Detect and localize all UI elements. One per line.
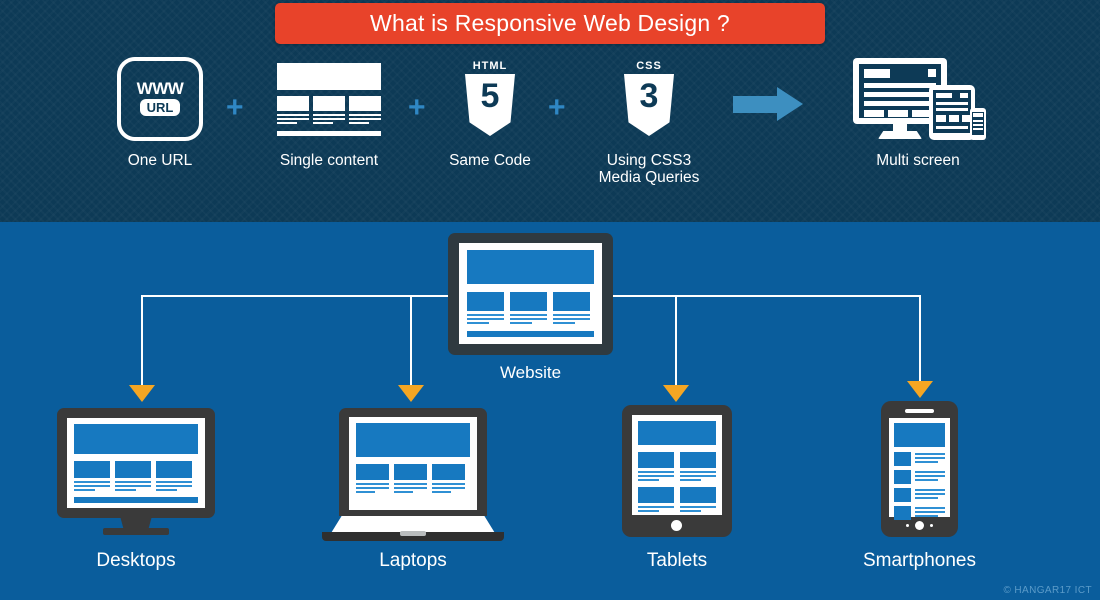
- arrow-right-icon: [733, 87, 805, 121]
- device-label-desktops: Desktops: [57, 550, 215, 572]
- css3-logo-icon: CSS 3: [590, 55, 708, 143]
- connector-drop-desktops: [141, 295, 143, 385]
- laptop-trackpad: [400, 531, 426, 536]
- plus-separator-3: +: [548, 93, 566, 123]
- formula-label-css3-line2: Media Queries: [590, 169, 708, 186]
- arrow-down-tablets-icon: [663, 385, 689, 402]
- smartphone-icon: [881, 401, 958, 537]
- tablet-icon: [622, 405, 732, 537]
- css3-number: 3: [640, 74, 659, 118]
- formula-label-same-code: Same Code: [435, 152, 545, 169]
- page-title: What is Responsive Web Design ?: [370, 10, 730, 37]
- formula-label-single-content: Single content: [268, 152, 390, 169]
- connector-drop-tablets: [675, 295, 677, 385]
- formula-label-one-url: One URL: [110, 152, 210, 169]
- desktop-monitor-icon: [57, 408, 215, 533]
- html5-tag-text: HTML: [462, 60, 518, 72]
- formula-item-same-code: HTML 5 Same Code: [435, 55, 545, 169]
- html5-logo-icon: HTML 5: [435, 55, 545, 143]
- connector-drop-laptops: [410, 295, 412, 385]
- html5-number: 5: [481, 74, 500, 118]
- formula-item-multi-screen: Multi screen: [848, 55, 988, 169]
- node-label-website: Website: [448, 363, 613, 383]
- single-content-icon: [268, 55, 390, 143]
- url-icon-www-text: WWW: [137, 82, 184, 96]
- url-icon: WWW URL: [110, 55, 210, 143]
- css3-tag-text: CSS: [621, 60, 677, 72]
- formula-label-multi-screen: Multi screen: [848, 152, 988, 169]
- arrow-down-smartphones-icon: [907, 381, 933, 398]
- formula-row: WWW URL One URL + Single c: [0, 55, 1100, 205]
- title-banner: What is Responsive Web Design ?: [275, 3, 825, 44]
- website-icon: [448, 233, 613, 355]
- multi-screen-icon: [848, 55, 988, 143]
- copyright-credit: © HANGAR17 ICT: [1003, 585, 1092, 596]
- plus-separator-1: +: [226, 93, 244, 123]
- connector-drop-smartphones: [919, 295, 921, 385]
- phone-home-button: [915, 521, 924, 530]
- formula-label-css3-line1: Using CSS3: [590, 152, 708, 169]
- formula-item-one-url: WWW URL One URL: [110, 55, 210, 169]
- device-label-tablets: Tablets: [622, 550, 732, 572]
- formula-item-css3: CSS 3 Using CSS3 Media Queries: [590, 55, 708, 186]
- laptop-icon: [322, 408, 504, 540]
- url-icon-url-pill: URL: [140, 99, 181, 116]
- formula-item-single-content: Single content: [268, 55, 390, 169]
- arrow-down-laptops-icon: [398, 385, 424, 402]
- phone-speaker: [905, 409, 934, 413]
- device-label-laptops: Laptops: [322, 550, 504, 572]
- tablet-home-button: [671, 520, 682, 531]
- arrow-down-desktops-icon: [129, 385, 155, 402]
- infographic-canvas: What is Responsive Web Design ? WWW URL …: [0, 0, 1100, 600]
- plus-separator-2: +: [408, 93, 426, 123]
- device-label-smartphones: Smartphones: [851, 550, 988, 572]
